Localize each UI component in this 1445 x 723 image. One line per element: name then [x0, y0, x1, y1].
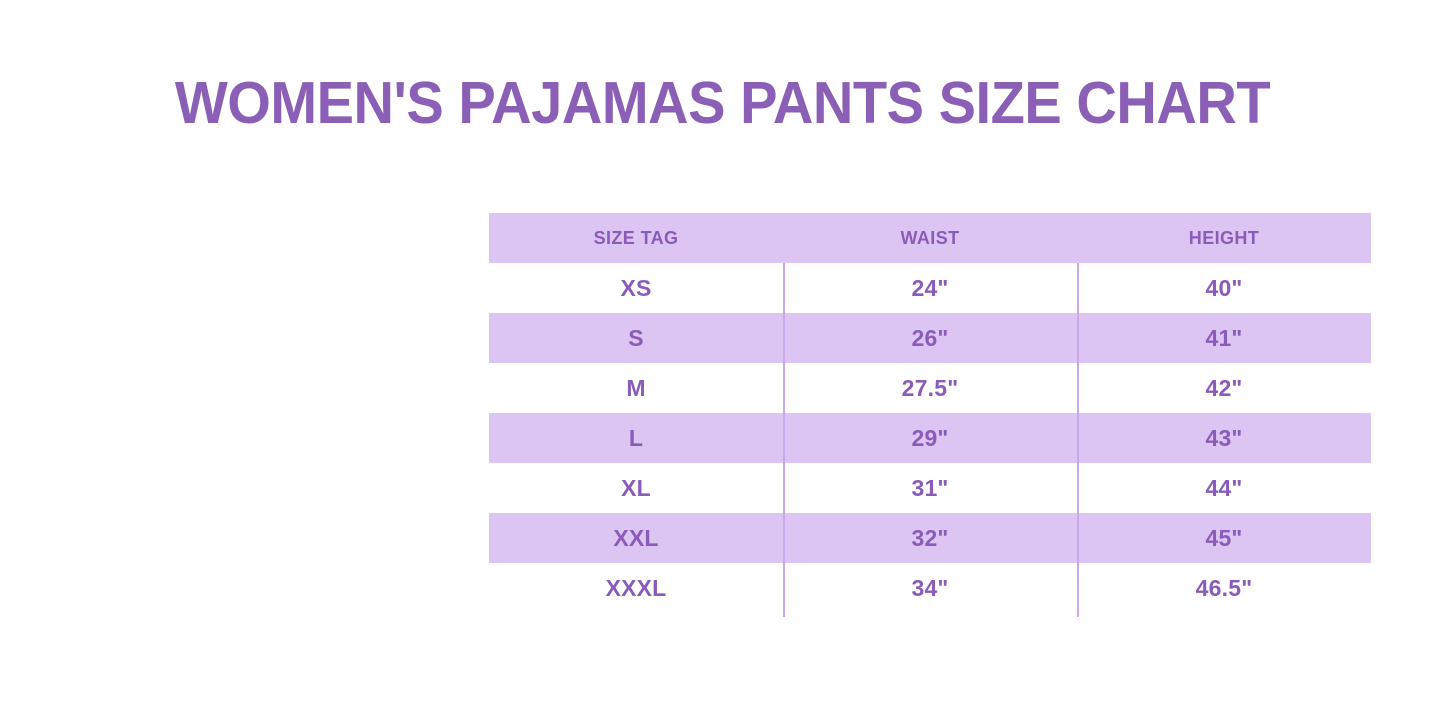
table-row: M 27.5" 42"	[489, 363, 1371, 413]
size-chart-table-container: SIZE TAG WAIST HEIGHT XS 24" 40" S 26" 4…	[489, 213, 1371, 613]
cell-size-tag: XS	[489, 263, 783, 313]
page-title: WOMEN'S PAJAMAS PANTS SIZE CHART	[36, 68, 1409, 138]
cell-waist: 32"	[783, 513, 1077, 563]
cell-height: 44"	[1077, 463, 1371, 513]
column-divider-line	[783, 263, 785, 617]
table-row: XS 24" 40"	[489, 263, 1371, 313]
cell-waist: 34"	[783, 563, 1077, 613]
table-header-row: SIZE TAG WAIST HEIGHT	[489, 213, 1371, 263]
cell-waist: 27.5"	[783, 363, 1077, 413]
cell-waist: 29"	[783, 413, 1077, 463]
column-header-waist: WAIST	[783, 213, 1077, 263]
cell-height: 43"	[1077, 413, 1371, 463]
column-header-height: HEIGHT	[1077, 213, 1371, 263]
cell-height: 45"	[1077, 513, 1371, 563]
table-row: S 26" 41"	[489, 313, 1371, 363]
table-row: XL 31" 44"	[489, 463, 1371, 513]
cell-height: 41"	[1077, 313, 1371, 363]
cell-waist: 24"	[783, 263, 1077, 313]
size-chart-page: WOMEN'S PAJAMAS PANTS SIZE CHART SIZE TA…	[0, 0, 1445, 723]
table-row: L 29" 43"	[489, 413, 1371, 463]
table-header: SIZE TAG WAIST HEIGHT	[489, 213, 1371, 263]
column-header-size-tag: SIZE TAG	[489, 213, 783, 263]
cell-size-tag: L	[489, 413, 783, 463]
table-row: XXL 32" 45"	[489, 513, 1371, 563]
cell-size-tag: XXL	[489, 513, 783, 563]
cell-height: 46.5"	[1077, 563, 1371, 613]
size-chart-table: SIZE TAG WAIST HEIGHT XS 24" 40" S 26" 4…	[489, 213, 1371, 613]
column-divider-line	[1077, 263, 1079, 617]
cell-waist: 26"	[783, 313, 1077, 363]
cell-size-tag: XXXL	[489, 563, 783, 613]
cell-height: 42"	[1077, 363, 1371, 413]
cell-height: 40"	[1077, 263, 1371, 313]
table-body: XS 24" 40" S 26" 41" M 27.5" 42" L 29"	[489, 263, 1371, 613]
cell-size-tag: M	[489, 363, 783, 413]
table-row: XXXL 34" 46.5"	[489, 563, 1371, 613]
cell-size-tag: S	[489, 313, 783, 363]
cell-waist: 31"	[783, 463, 1077, 513]
cell-size-tag: XL	[489, 463, 783, 513]
